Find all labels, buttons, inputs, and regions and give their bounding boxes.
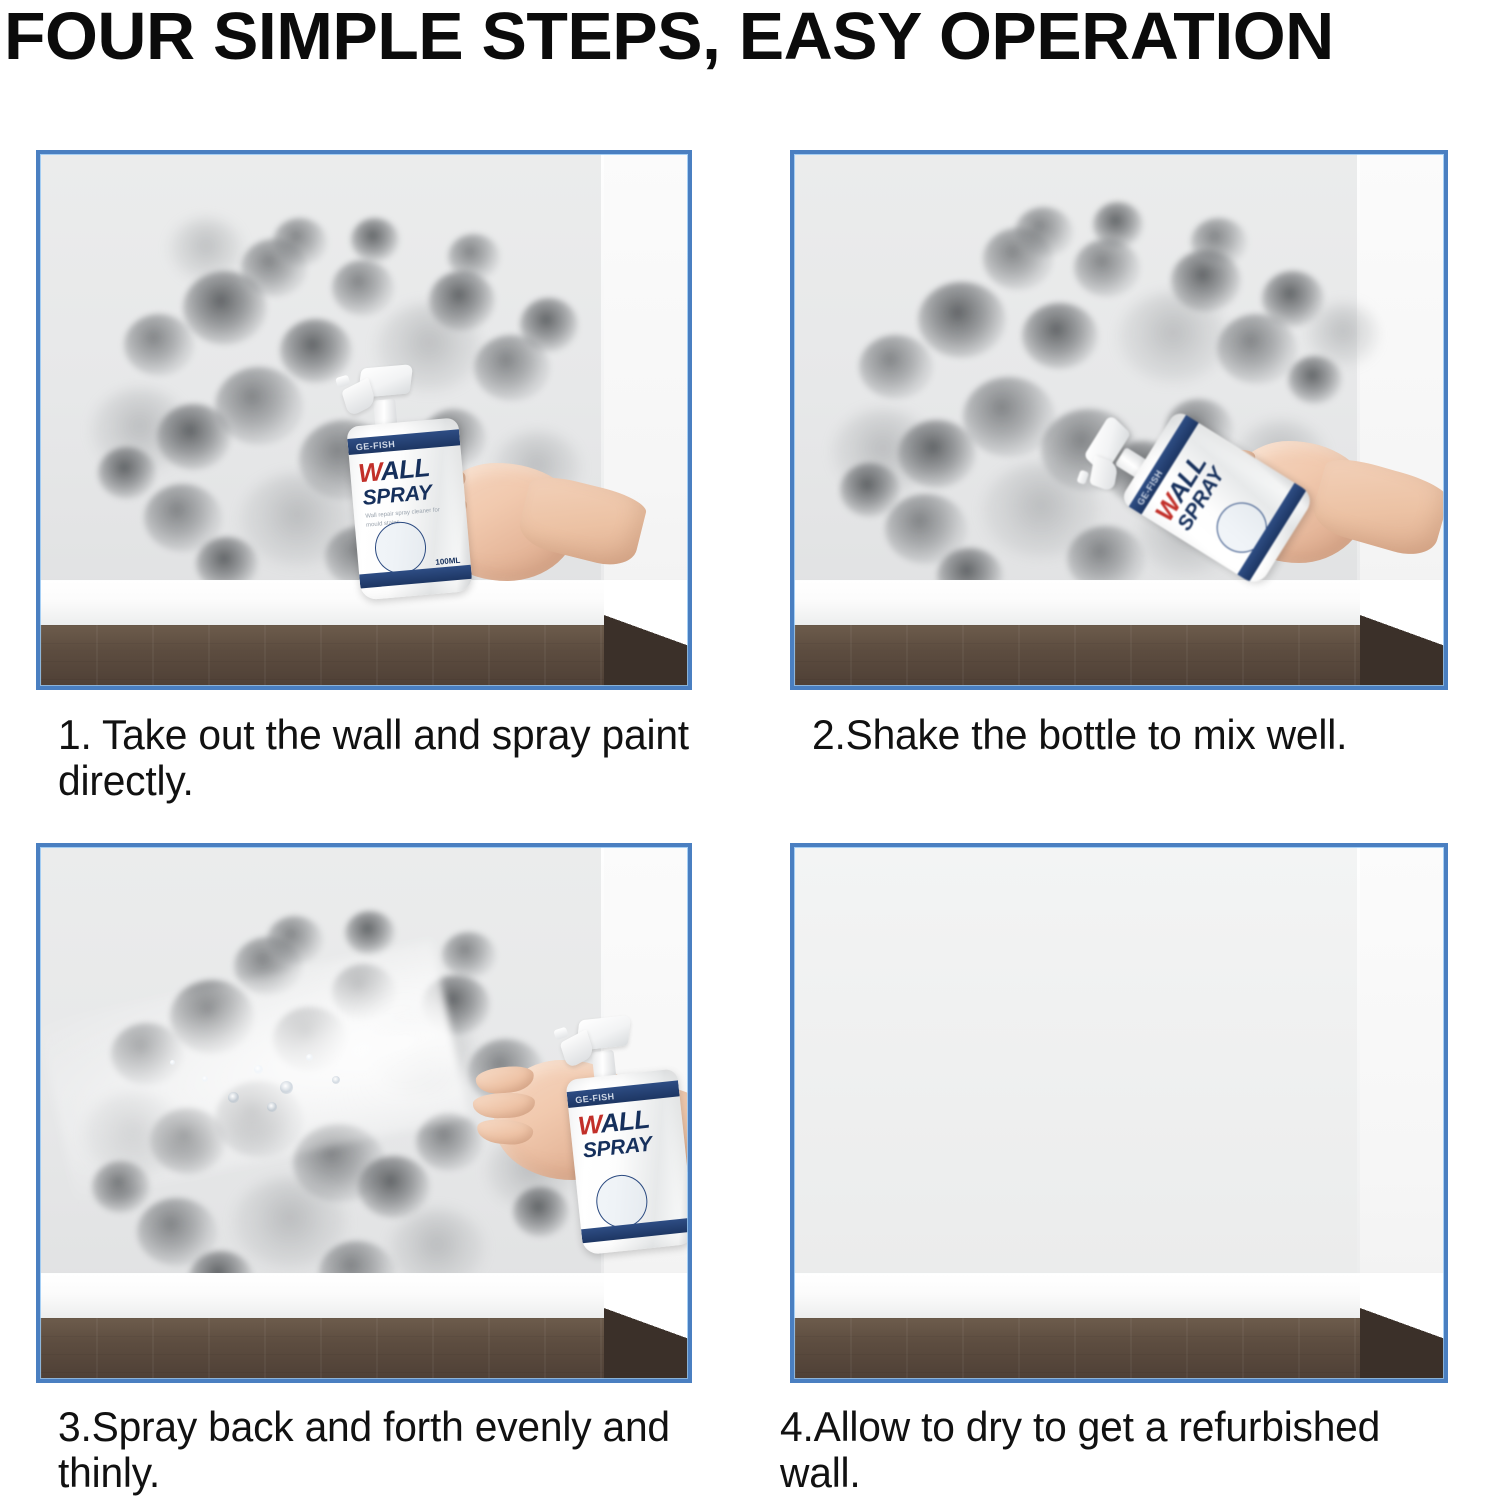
step-panel-1: GE-FISH WALL SPRAY Wall repair spray cle… [36,150,692,690]
baseboard [40,1273,688,1321]
baseboard [794,1273,1444,1321]
step-panel-4 [790,843,1448,1383]
room-scene-mouldy: GE-FISH WALL SPRAY Wall repair spray cle… [40,154,688,686]
bottle-body: GE-FISH WALL SPRAY [566,1068,688,1255]
floor-corner-wedge [604,1273,688,1379]
step-photo-1: GE-FISH WALL SPRAY Wall repair spray cle… [36,150,692,690]
room-scene-clean [794,847,1444,1379]
bottle-body: GE-FISH WALL SPRAY Wall repair spray cle… [346,418,473,601]
spray-droplet [170,1060,175,1065]
spray-droplet [254,1065,263,1074]
baseboard [794,580,1444,628]
step-panel-3: GE-FISH WALL SPRAY [36,843,692,1383]
spray-droplet [332,1076,340,1084]
infographic-page: FOUR SIMPLE STEPS, EASY OPERATION [0,0,1487,1500]
spray-droplet [280,1081,293,1094]
step-caption-1: 1. Take out the wall and spray paint dir… [58,712,718,804]
step-caption-2: 2.Shake the bottle to mix well. [812,712,1452,758]
step-panel-2: GE-FISH WALL SPRAY [790,150,1448,690]
step-photo-3: GE-FISH WALL SPRAY [36,843,692,1383]
bottle-name-line2: SPRAY [362,483,433,509]
bottle-nozzle [573,1012,631,1081]
spray-bottle: GE-FISH WALL SPRAY Wall repair spray cle… [341,357,473,601]
wood-floor [794,1318,1444,1379]
step-photo-2: GE-FISH WALL SPRAY [790,150,1448,690]
label-band-bottom [359,565,472,589]
bottle-name-line2: SPRAY [582,1135,653,1162]
step-caption-3: 3.Spray back and forth evenly and thinly… [58,1404,718,1496]
room-scene-mouldy: GE-FISH WALL SPRAY [794,154,1444,686]
room-scene-spraying: GE-FISH WALL SPRAY [40,847,688,1379]
wood-floor [40,625,688,686]
spray-droplet [202,1076,208,1082]
wood-floor [40,1318,688,1379]
spray-droplet [228,1092,239,1103]
wood-floor [794,625,1444,686]
step-caption-4: 4.Allow to dry to get a refurbished wall… [780,1404,1459,1496]
step-photo-4 [790,843,1448,1383]
floor-corner-wedge [1360,580,1445,686]
floor-corner-wedge [604,580,688,686]
bottle-nozzle [354,361,411,429]
floor-corner-wedge [1360,1273,1445,1379]
